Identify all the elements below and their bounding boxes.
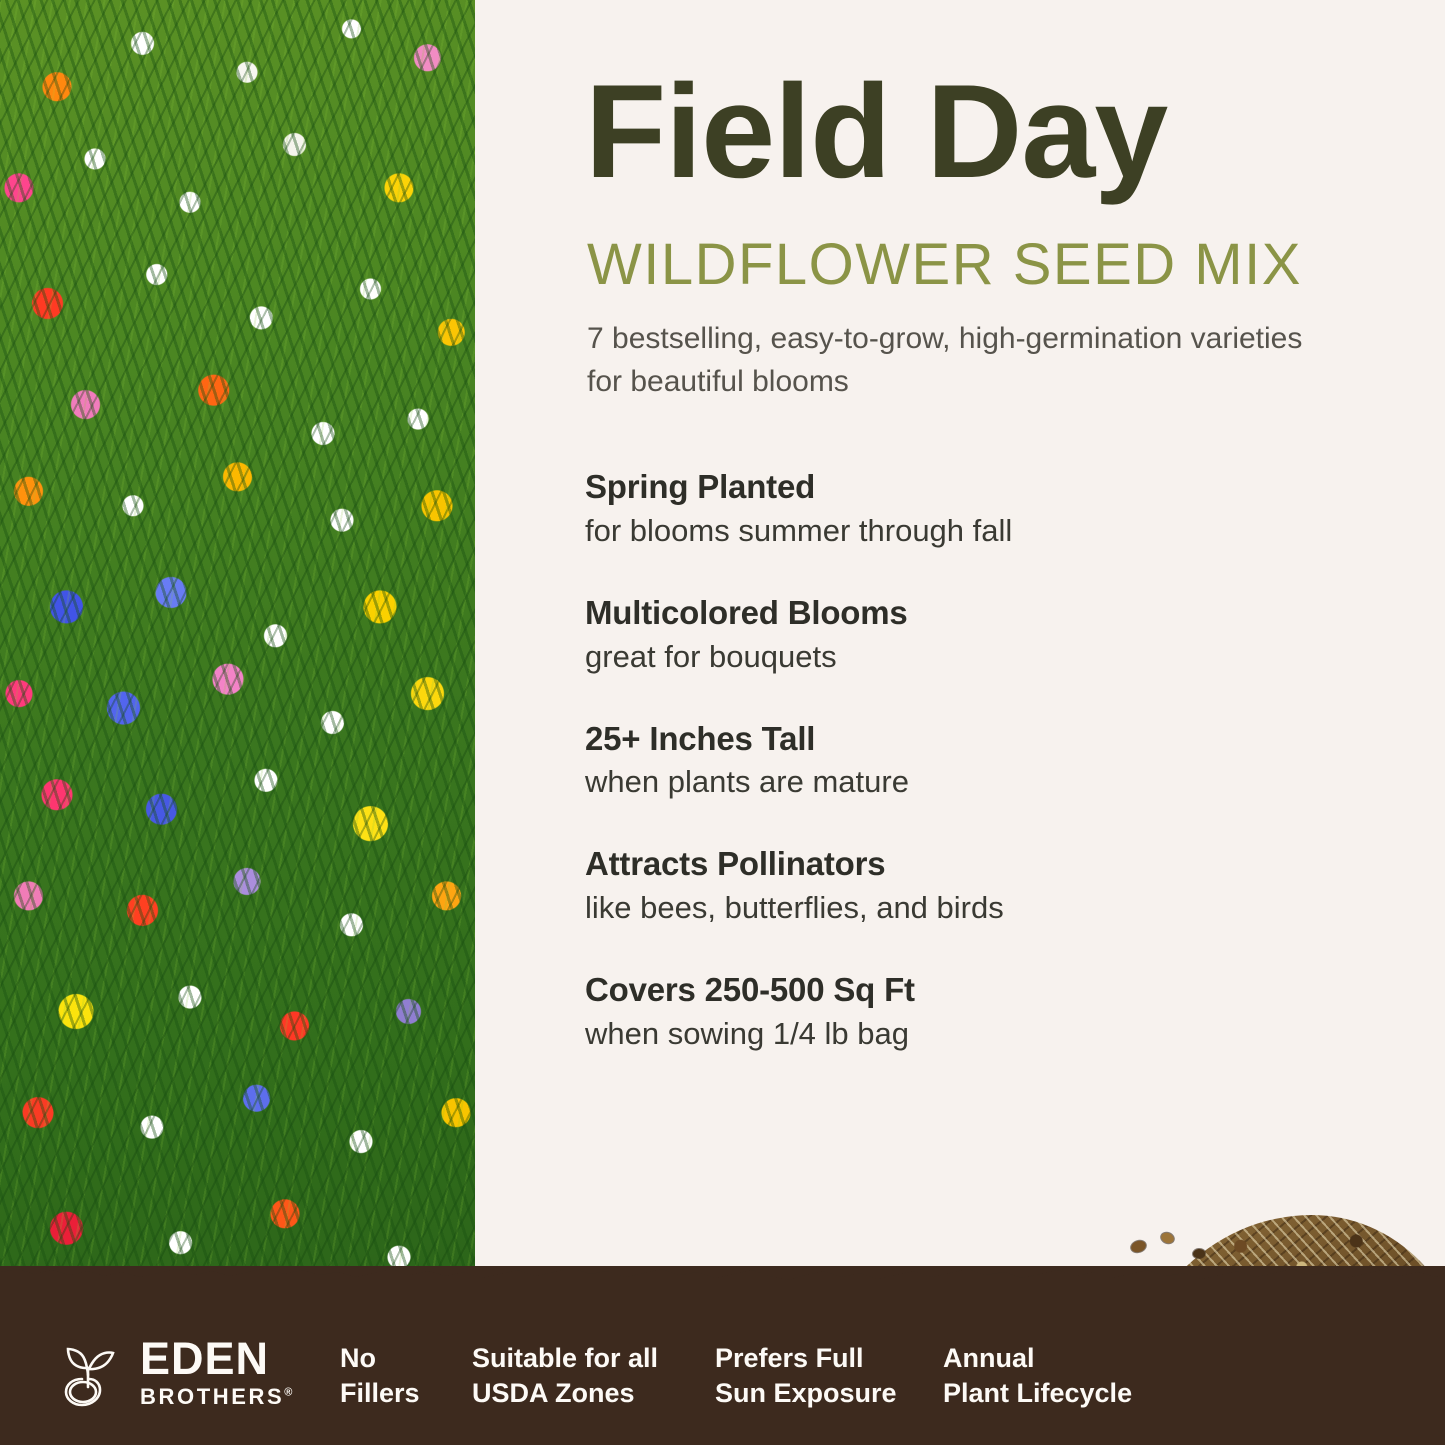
- registered-mark: ®: [284, 1387, 292, 1399]
- feature-heading: 25+ Inches Tall: [585, 720, 1345, 759]
- feature-item: Attracts Pollinators like bees, butterfl…: [585, 845, 1345, 927]
- feature-heading: Multicolored Blooms: [585, 594, 1345, 633]
- footer-attribute-list: No Fillers Suitable for all USDA Zones P…: [340, 1341, 1183, 1411]
- footer-item-line2: Plant Lifecycle: [943, 1376, 1183, 1411]
- feature-list: Spring Planted for blooms summer through…: [585, 468, 1345, 1053]
- soil-band: EDEN BROTHERS® No Fillers Suitable for a…: [0, 1280, 1445, 1445]
- feature-item: Spring Planted for blooms summer through…: [585, 468, 1345, 550]
- soil-torn-edge: [0, 1266, 1445, 1286]
- feature-detail: like bees, butterflies, and birds: [585, 889, 1345, 927]
- feature-detail: when plants are mature: [585, 763, 1345, 801]
- footer-item-line1: Prefers Full: [715, 1341, 943, 1376]
- feature-heading: Covers 250-500 Sq Ft: [585, 971, 1345, 1010]
- feature-detail: for blooms summer through fall: [585, 512, 1345, 550]
- feature-detail: great for bouquets: [585, 638, 1345, 676]
- logo-wordmark: EDEN BROTHERS®: [140, 1336, 292, 1408]
- feature-heading: Spring Planted: [585, 468, 1345, 507]
- feature-item: Covers 250-500 Sq Ft when sowing 1/4 lb …: [585, 971, 1345, 1053]
- footer-item-lifecycle: Annual Plant Lifecycle: [943, 1341, 1183, 1411]
- product-subtitle: WILDFLOWER SEED MIX: [587, 236, 1302, 294]
- feature-heading: Attracts Pollinators: [585, 845, 1345, 884]
- logo-eden-text: EDEN: [140, 1336, 292, 1381]
- sprout-seed-icon: [52, 1335, 126, 1409]
- footer-item-line1: Annual: [943, 1341, 1183, 1376]
- product-title: Field Day: [585, 68, 1167, 197]
- logo-brothers-text: BROTHERS®: [140, 1386, 292, 1408]
- wildflower-meadow-photo: [0, 0, 475, 1445]
- footer-item-usda-zones: Suitable for all USDA Zones: [472, 1341, 715, 1411]
- feature-item: 25+ Inches Tall when plants are mature: [585, 720, 1345, 802]
- foliage-texture-overlay: [0, 0, 475, 1445]
- footer-item-no-fillers: No Fillers: [340, 1341, 472, 1411]
- content-panel: Field Day WILDFLOWER SEED MIX 7 bestsell…: [475, 0, 1445, 1445]
- footer-item-sun-exposure: Prefers Full Sun Exposure: [715, 1341, 943, 1411]
- product-tagline: 7 bestselling, easy-to-grow, high-germin…: [587, 318, 1327, 403]
- feature-detail: when sowing 1/4 lb bag: [585, 1015, 1345, 1053]
- eden-brothers-logo: EDEN BROTHERS®: [52, 1335, 292, 1409]
- footer-item-line1: No: [340, 1341, 472, 1376]
- footer-item-line1: Suitable for all: [472, 1341, 715, 1376]
- logo-brothers-label: BROTHERS: [140, 1384, 284, 1409]
- footer-item-line2: USDA Zones: [472, 1376, 715, 1411]
- footer-item-line2: Fillers: [340, 1376, 472, 1411]
- product-infographic: Field Day WILDFLOWER SEED MIX 7 bestsell…: [0, 0, 1445, 1445]
- feature-item: Multicolored Blooms great for bouquets: [585, 594, 1345, 676]
- footer-item-line2: Sun Exposure: [715, 1376, 943, 1411]
